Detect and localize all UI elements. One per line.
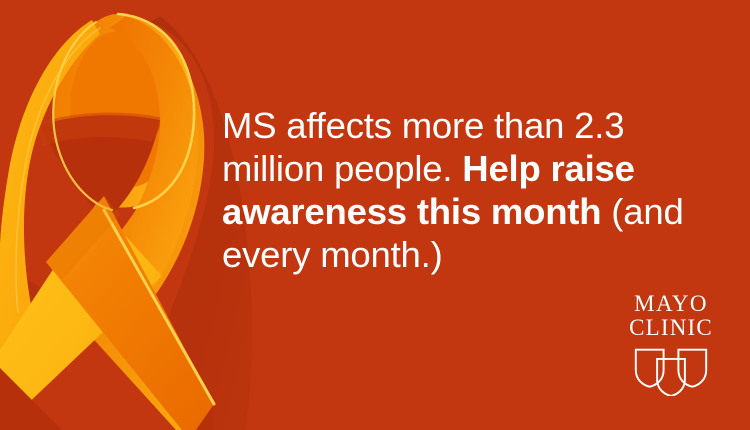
ribbon-svg [0, 0, 260, 430]
mayo-three-shields-icon [629, 346, 713, 396]
awareness-poster: MS affects more than 2.3 million people.… [0, 0, 750, 430]
mayo-wordmark-line2: CLINIC [629, 316, 713, 340]
shield-left [636, 350, 664, 387]
headline: MS affects more than 2.3 million people.… [222, 104, 722, 276]
shield-right [678, 350, 706, 387]
mayo-wordmark-line1: MAYO [634, 292, 708, 316]
mayo-clinic-logo: MAYO CLINIC [600, 292, 742, 396]
awareness-ribbon-graphic [0, 0, 260, 430]
